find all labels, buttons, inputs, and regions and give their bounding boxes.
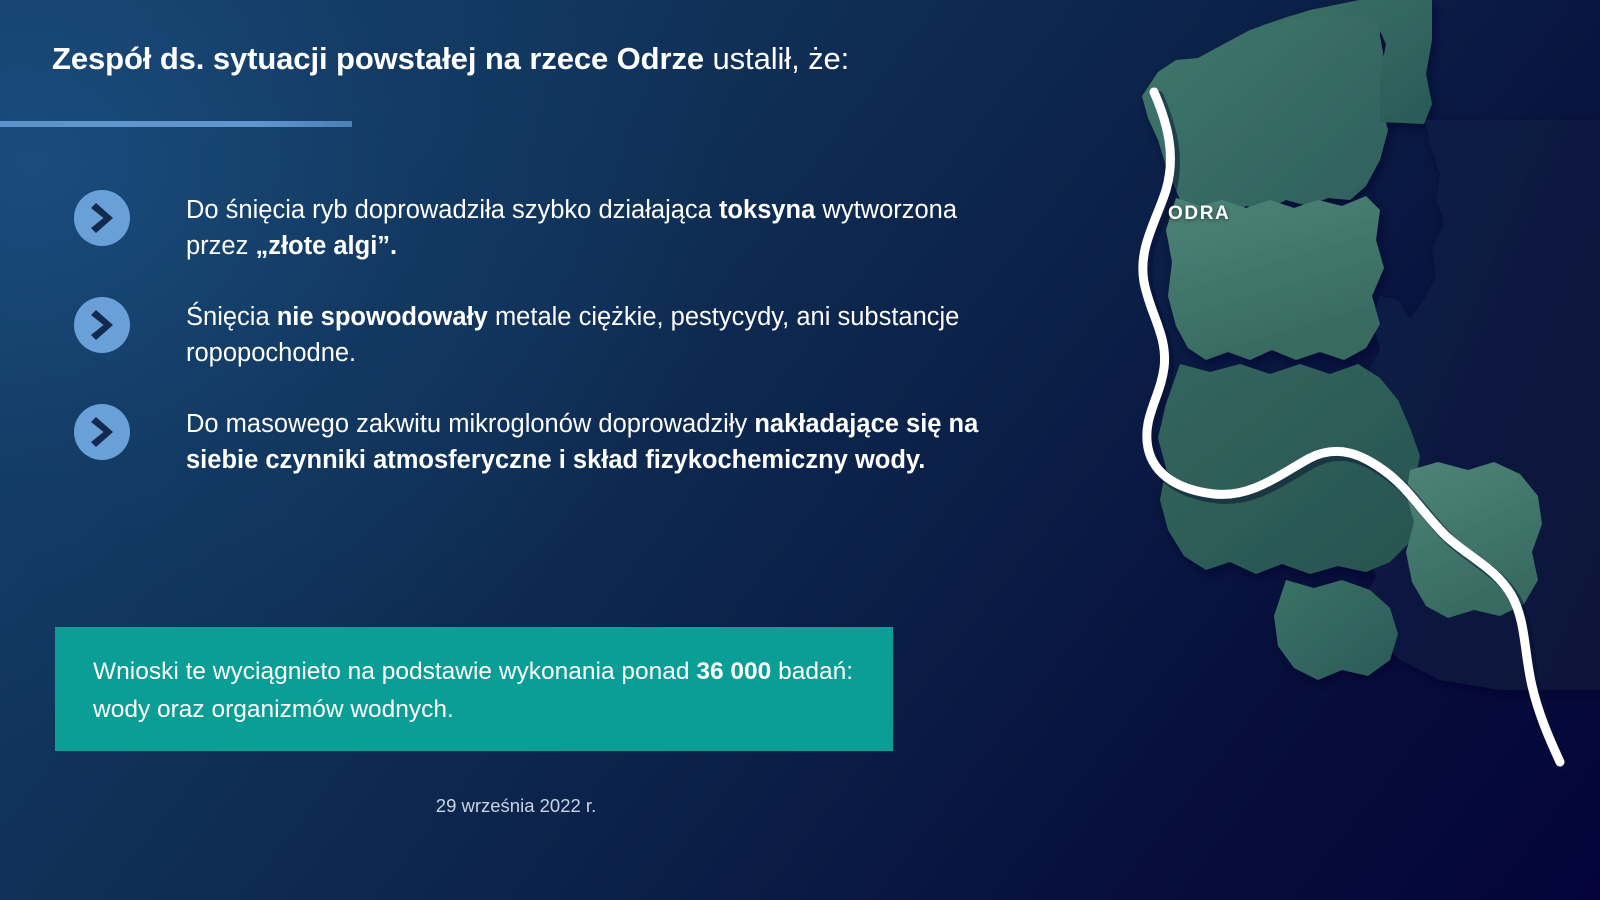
callout-text: Wnioski te wyciągnieto na podstawie wyko… [93,653,855,729]
bullet-segment-bold: „złote algi”. [255,232,397,260]
bullet-text-2: Śnięcia nie spowodowały metale ciężkie, … [186,293,1004,372]
map-region-dolnoslaskie [1158,364,1422,574]
bullet-segment: Do śnięcia ryb doprowadziła szybko dział… [186,196,719,224]
bullet-segment-bold: toksyna [719,196,815,224]
chevron-right-icon [74,190,130,246]
poland-map [1080,0,1600,900]
odra-river-shadow [1147,96,1564,766]
callout-segment: Wnioski te wyciągnieto na podstawie wyko… [93,658,696,685]
odra-river-label: ODRA [1168,203,1230,225]
callout-number: 36 000 [696,658,771,685]
map-region-north [1260,0,1432,124]
map-region-south [1274,580,1398,680]
chevron-right-icon [74,404,130,460]
infographic-slide: ODRA Zespół ds. sytuacji powstałej na rz… [0,0,1600,900]
page-title: Zespół ds. sytuacji powstałej na rzece O… [52,40,1052,79]
bullet-segment-bold: nie spowodowały [277,303,488,331]
bullet-text-3: Do masowego zakwitu mikroglonów doprowad… [186,400,1004,479]
odra-river [1143,92,1564,766]
title-underline-rule [0,121,352,127]
slide-date: 29 września 2022 r. [0,795,1032,817]
bullet-text-1: Do śnięcia ryb doprowadziła szybko dział… [186,186,1004,265]
odra-river-line [1143,92,1560,762]
map-region-zachodniopomorskie [1142,0,1388,220]
list-item: Do masowego zakwitu mikroglonów doprowad… [74,400,1004,479]
bullet-segment: Śnięcia [186,303,277,331]
map-region-opolskie [1406,462,1542,618]
chevron-right-icon [74,297,130,353]
list-item: Śnięcia nie spowodowały metale ciężkie, … [74,293,1004,372]
page-title-bold: Zespół ds. sytuacji powstałej na rzece O… [52,41,704,76]
list-item: Do śnięcia ryb doprowadziła szybko dział… [74,186,1004,265]
page-title-rest: ustalił, że: [704,41,849,76]
map-regions [1142,0,1600,690]
callout-box: Wnioski te wyciągnieto na podstawie wyko… [55,627,893,751]
bullet-segment: Do masowego zakwitu mikroglonów doprowad… [186,410,754,438]
bullet-list: Do śnięcia ryb doprowadziła szybko dział… [74,186,1004,507]
map-region-east-dark [1362,120,1600,690]
